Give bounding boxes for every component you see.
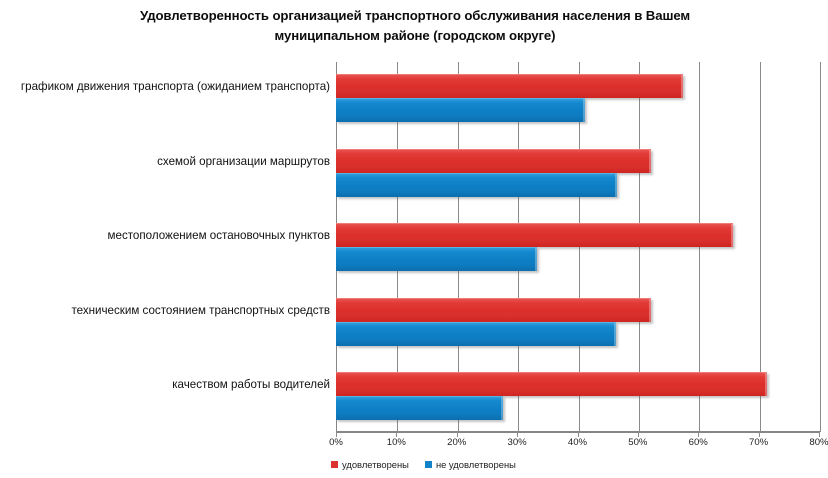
bar-highlight-cap: [535, 248, 537, 271]
legend-swatch-blue-icon: [425, 461, 432, 468]
category-label-3: техническим состоянием транспортных сред…: [0, 304, 330, 318]
bar-highlight-cap: [649, 299, 651, 322]
x-tick-label-60: 60%: [678, 437, 718, 448]
bar-not-satisfied-3[interactable]: [336, 322, 616, 346]
category-label-4: качеством работы водителей: [0, 378, 330, 392]
bar-highlight-cap: [501, 397, 503, 420]
chart-title: Удовлетворенность организацией транспорт…: [60, 6, 770, 46]
legend-label-not-satisfied: не удовлетворены: [436, 459, 516, 470]
x-tick-label-40: 40%: [558, 437, 598, 448]
x-tick-label-0: 0%: [316, 437, 356, 448]
bar-highlight-cap: [681, 75, 683, 98]
x-tick-label-70: 70%: [739, 437, 779, 448]
gridline-80: [820, 62, 821, 432]
x-tick-label-30: 30%: [497, 437, 537, 448]
x-tick-mark-80: [819, 432, 820, 437]
legend-item-not-satisfied[interactable]: не удовлетворены: [425, 459, 516, 470]
bar-highlight-cap: [615, 174, 617, 197]
legend-label-satisfied: удовлетворены: [342, 459, 409, 470]
x-tick-mark-50: [638, 432, 639, 437]
x-tick-label-80: 80%: [799, 437, 828, 448]
chart-legend: удовлетворены не удовлетворены: [331, 459, 516, 470]
bar-highlight-cap: [765, 373, 767, 396]
bar-satisfied-1[interactable]: [336, 149, 651, 173]
x-tick-mark-70: [759, 432, 760, 437]
x-tick-mark-20: [457, 432, 458, 437]
x-tick-mark-60: [698, 432, 699, 437]
x-tick-label-50: 50%: [618, 437, 658, 448]
legend-item-satisfied[interactable]: удовлетворены: [331, 459, 409, 470]
bar-chart: Удовлетворенность организацией транспорт…: [0, 0, 828, 478]
category-label-1: схемой организации маршрутов: [0, 155, 330, 169]
category-label-2: местоположением остановочных пунктов: [0, 229, 330, 243]
bar-not-satisfied-4[interactable]: [336, 396, 503, 420]
bar-satisfied-0[interactable]: [336, 74, 683, 98]
bar-satisfied-2[interactable]: [336, 223, 733, 247]
x-tick-mark-0: [336, 432, 337, 437]
bar-satisfied-3[interactable]: [336, 298, 651, 322]
chart-title-line-1: Удовлетворенность организацией транспорт…: [60, 6, 770, 26]
chart-title-line-2: муниципальном районе (городском округе): [60, 26, 770, 46]
x-tick-label-20: 20%: [437, 437, 477, 448]
bar-highlight-cap: [731, 224, 733, 247]
category-label-0: графиком движения транспорта (ожиданием …: [0, 80, 330, 94]
bar-highlight-cap: [583, 99, 585, 122]
x-tick-label-10: 10%: [376, 437, 416, 448]
bar-highlight-cap: [649, 150, 651, 173]
bar-satisfied-4[interactable]: [336, 372, 767, 396]
x-tick-mark-10: [396, 432, 397, 437]
x-tick-mark-40: [578, 432, 579, 437]
bar-not-satisfied-2[interactable]: [336, 247, 537, 271]
x-tick-mark-30: [517, 432, 518, 437]
bar-highlight-cap: [614, 323, 616, 346]
bar-not-satisfied-0[interactable]: [336, 98, 585, 122]
bar-not-satisfied-1[interactable]: [336, 173, 617, 197]
legend-swatch-red-icon: [331, 461, 338, 468]
